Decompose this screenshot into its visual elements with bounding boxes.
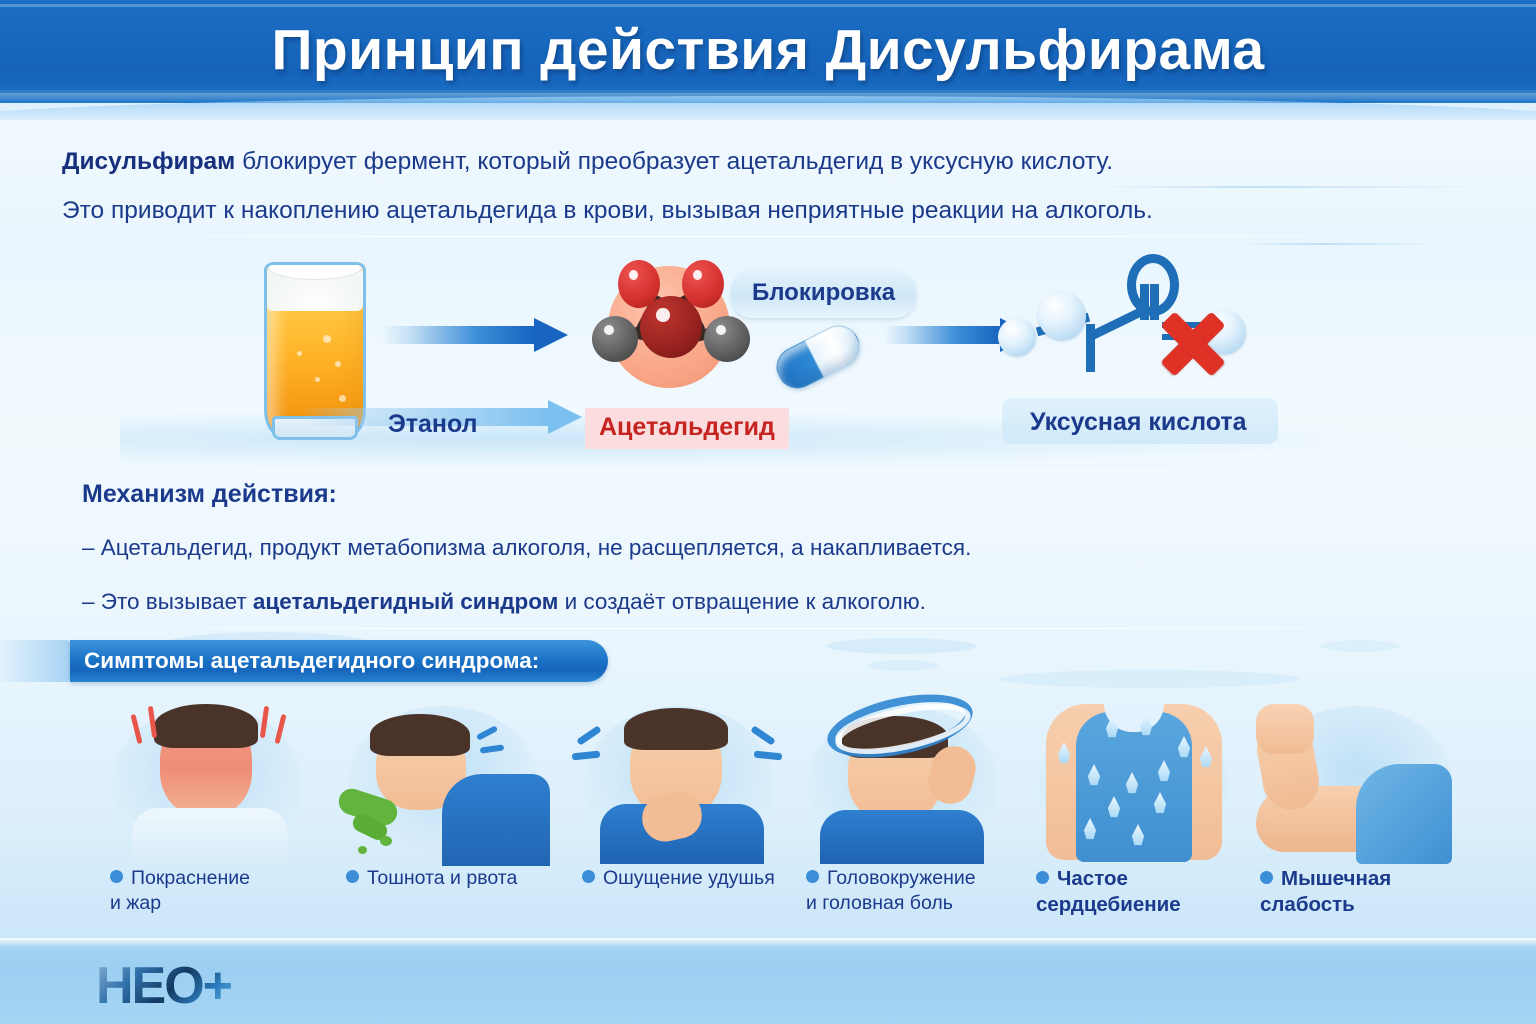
page-footer: НЕО+ [0, 938, 1536, 1024]
symptom-label-line1: Головокружение [827, 867, 976, 889]
beer-bubble [297, 351, 302, 356]
symptom-label-line1: Частое [1057, 867, 1128, 890]
vomit-drop [358, 846, 367, 854]
symptom-label-line1: Покраснение [131, 867, 250, 889]
symptoms-banner: Симптомы ацетальдегидного синдрома: [70, 640, 608, 682]
footer-top-highlight [0, 938, 1536, 946]
sweating-torso-icon [1020, 690, 1250, 860]
symptom-label: Ошущение удушья [582, 866, 797, 891]
symptom-label: Покраснениеи жар [110, 866, 325, 915]
intro-text-block: Дисульфирам блокирует фермент, который п… [62, 146, 1482, 245]
shirt-shape [442, 774, 550, 866]
mechanism-item-highlight: ацетальдегидный синдром [253, 589, 558, 614]
symptom-card[interactable]: Тошнота и рвота [330, 690, 560, 860]
beer-bubble [323, 335, 331, 343]
mechanism-item-text: Ацетальдегид, продукт метабопизма алкого… [101, 535, 972, 560]
symptom-label-line1: Тошнота и рвота [367, 867, 517, 889]
page-title: Принцип действия Дисульфирама [0, 17, 1536, 83]
beer-bubble [315, 377, 320, 382]
arrow-head [548, 400, 582, 434]
bullet-dot-icon [1036, 871, 1049, 884]
mechanism-item-text-post: и создаёт отвращение к алкоголю. [558, 589, 926, 614]
bullet-dot-icon [110, 870, 123, 883]
beer-bubble [335, 361, 341, 367]
hair-shape [370, 714, 470, 756]
symptom-label: Частоесердцебиение [1036, 866, 1251, 918]
symptom-label-line2: слабость [1260, 893, 1355, 916]
structure-atom [998, 318, 1036, 356]
brand-logo: НЕО+ [96, 956, 231, 1016]
mechanism-list: – Ацетальдегид, продукт метабопизма алко… [82, 535, 1432, 643]
symptom-label: Тошнота и рвота [346, 866, 561, 891]
label-acetaldehyde: Ацетальдегид [585, 408, 789, 449]
choking-person-icon [566, 690, 796, 860]
intro-line-1-rest: блокирует фермент, который преобразует а… [235, 148, 1113, 175]
symptom-card[interactable]: Покраснениеи жар [94, 690, 324, 860]
intro-line-2: Это приводит к накоплению ацетальдегида … [62, 195, 1482, 226]
fist-shape [1256, 704, 1314, 754]
shirt-shape [132, 808, 288, 864]
puddle-decoration [1000, 670, 1300, 688]
symptom-label-line2: и жар [110, 892, 161, 914]
shirt-shape [820, 810, 984, 864]
blockade-badge: Блокировка [731, 270, 916, 318]
label-ethanol: Этанол [388, 410, 478, 439]
header-stripe [0, 90, 1536, 93]
vomiting-person-icon [330, 690, 560, 860]
sleeve-shape [1356, 764, 1452, 864]
symptom-label-line1: Мышечная [1281, 867, 1391, 890]
symptoms-banner-cap [0, 640, 72, 682]
structure-atom [1038, 292, 1086, 340]
molecule-atom-center [640, 296, 702, 358]
symptom-label-line2: сердцебиение [1036, 893, 1181, 916]
symptom-label-line2: и головная боль [806, 892, 953, 914]
symptom-label-line1: Ошущение удушья [603, 867, 775, 889]
symptom-label: Мышечнаяслабость [1260, 866, 1475, 918]
infographic-page: Принцип действия Дисульфирама Дисульфира… [0, 0, 1536, 1024]
symptom-card[interactable]: Ошущение удушья [566, 690, 796, 860]
mechanism-item-text-pre: Это вызывает [101, 589, 253, 614]
label-acetic-acid: Уксусная кислота [1030, 408, 1247, 437]
acetic-acid-structure-icon [990, 262, 1270, 392]
page-header: Принцип действия Дисульфирама [0, 0, 1536, 103]
symptom-card[interactable]: Головокружениеи головная боль [790, 690, 1020, 860]
molecule-atom-carbon [704, 316, 750, 362]
flushed-face-icon [94, 690, 324, 860]
arrow-ethanol-to-acetaldehyde [382, 318, 568, 352]
dizzy-person-icon [790, 690, 1020, 860]
header-stripe [0, 4, 1536, 7]
intro-drug-name: Дисульфирам [62, 148, 235, 175]
mechanism-item-dash: – [82, 589, 101, 614]
arrow-shaft [382, 326, 534, 344]
puddle-decoration [868, 660, 938, 671]
flexed-arm-icon [1244, 690, 1474, 860]
mechanism-item: – Ацетальдегид, продукт метабопизма алко… [82, 535, 1432, 561]
symptoms-row: Покраснениеи жар Тошнота и рвота [0, 690, 1536, 940]
molecule-atom-carbon [592, 316, 638, 362]
bullet-dot-icon [806, 870, 819, 883]
beer-foam [267, 265, 363, 311]
bullet-dot-icon [582, 870, 595, 883]
red-cross-blocked-icon [1150, 300, 1236, 386]
symptom-card[interactable]: Частоесердцебиение [1020, 690, 1250, 860]
mechanism-title: Механизм действия: [82, 480, 337, 509]
bullet-dot-icon [346, 870, 359, 883]
mechanism-item-dash: – [82, 535, 101, 560]
hair-shape [624, 708, 728, 750]
intro-line-1: Дисульфирам блокирует фермент, который п… [62, 146, 1482, 177]
bullet-dot-icon [1260, 871, 1273, 884]
mechanism-item: – Это вызывает ацетальдегидный синдром и… [82, 589, 1432, 615]
symptom-label: Головокружениеи головная боль [806, 866, 1021, 915]
arrow-shaft [884, 326, 1000, 344]
hair-shape [154, 704, 258, 748]
vomit-drop [380, 836, 392, 846]
arrow-head [534, 318, 568, 352]
symptom-card[interactable]: Мышечнаяслабость [1244, 690, 1474, 860]
